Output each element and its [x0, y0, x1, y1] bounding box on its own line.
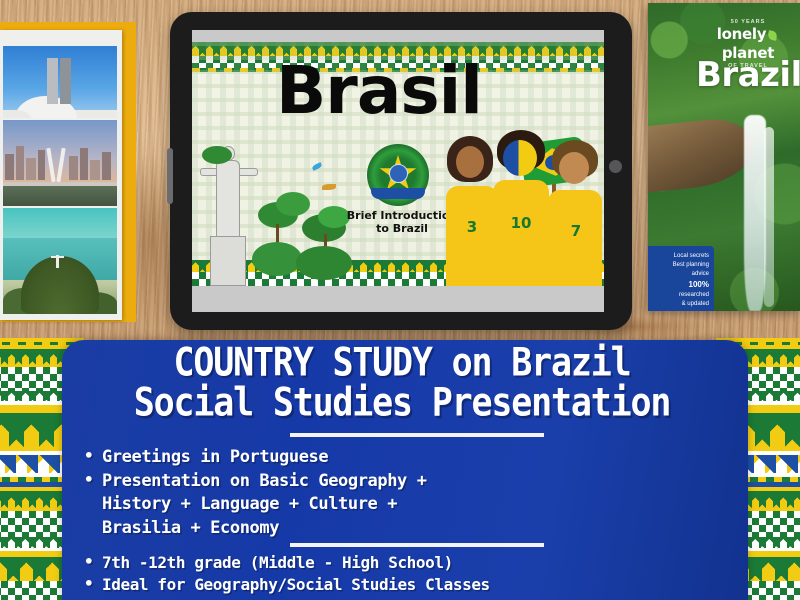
list-item-continuation: Brasilia + Economy [80, 517, 720, 540]
christ-the-redeemer-statue-icon [200, 146, 258, 286]
list-item: Presentation on Basic Geography + [80, 470, 720, 493]
book-features-badge: Local secrets Best planning advice 100% … [648, 246, 714, 311]
logo-word-lonely: lonely [717, 25, 766, 43]
building [80, 148, 88, 180]
building [5, 154, 14, 180]
list-item-label: Presentation on Basic Geography + [102, 471, 427, 491]
page-title-line-2: Social Studies Presentation [72, 384, 732, 424]
christ-redeemer-arms [51, 256, 64, 258]
list-item-label: Greetings in Portuguese [102, 447, 328, 467]
photo-rio-christ-redeemer-aerial [3, 208, 117, 314]
building [16, 146, 24, 180]
badge-line-2: Best planning [654, 261, 709, 270]
feature-list-secondary: 7th -12th grade (Middle - High School) I… [80, 552, 720, 597]
volume-button[interactable] [167, 148, 173, 204]
list-item-label: Ideal for Geography/Social Studies Class… [102, 575, 490, 594]
building [69, 156, 78, 180]
list-item: 7th -12th grade (Middle - High School) [80, 552, 720, 573]
leaf-icon [767, 30, 778, 41]
lonely-planet-brazil-book-cover: 50 YEARS lonelyplanet OF TRAVEL Brazil L… [648, 3, 800, 311]
list-item-label: History + Language + Culture + [102, 494, 397, 514]
congress-tower [60, 58, 71, 104]
divider-bottom [290, 543, 544, 547]
page-title: COUNTRY STUDY on Brazil Social Studies P… [72, 344, 732, 424]
photo-brasilia-national-congress [3, 46, 117, 118]
divider-top [290, 433, 544, 437]
waterfall [744, 115, 766, 311]
tablet-device[interactable]: Brasil [170, 12, 632, 330]
list-item: Ideal for Geography/Social Studies Class… [80, 574, 720, 595]
building [38, 150, 45, 180]
fan-figure: 10 [492, 130, 550, 286]
info-panel: COUNTRY STUDY on Brazil Social Studies P… [62, 340, 748, 600]
waterfall-secondary [764, 127, 774, 307]
book-title: Brazil [696, 55, 800, 95]
brazil-coat-of-arms-icon [367, 144, 429, 206]
brazilian-fans-illustration: 3 10 7 [444, 134, 604, 286]
fan-figure: 7 [548, 140, 604, 286]
list-item: Greetings in Portuguese [80, 446, 720, 469]
slide-title: Brasil [276, 58, 482, 124]
building [102, 152, 111, 180]
feature-list-primary: Greetings in Portuguese Presentation on … [80, 446, 720, 540]
photo-sao-paulo-skyline-bridge [3, 120, 117, 206]
badge-line-6: & updated [654, 300, 709, 309]
building [26, 158, 36, 180]
badge-line-1: Local secrets [654, 252, 709, 261]
photo-strip-card [0, 30, 122, 320]
camera-icon [609, 160, 622, 173]
badge-line-5: researched [654, 291, 709, 300]
congress-tower [47, 58, 58, 104]
list-item-continuation: History + Language + Culture + [80, 493, 720, 516]
river [3, 186, 117, 206]
tablet-screen[interactable]: Brasil [192, 30, 604, 312]
jersey-number: 7 [548, 222, 604, 240]
building [90, 160, 100, 180]
poster-canvas: Brasil [0, 0, 800, 600]
presentation-slide: Brasil [192, 42, 604, 286]
jersey-number: 10 [492, 214, 550, 232]
list-item-label: Brasilia + Economy [102, 518, 279, 538]
badge-line-4: 100% [654, 279, 709, 291]
logo-arc-top: 50 YEARS [698, 19, 798, 25]
badge-line-3: advice [654, 270, 709, 279]
list-item-label: 7th -12th grade (Middle - High School) [102, 553, 453, 572]
page-title-line-1: COUNTRY STUDY on Brazil [173, 341, 630, 386]
